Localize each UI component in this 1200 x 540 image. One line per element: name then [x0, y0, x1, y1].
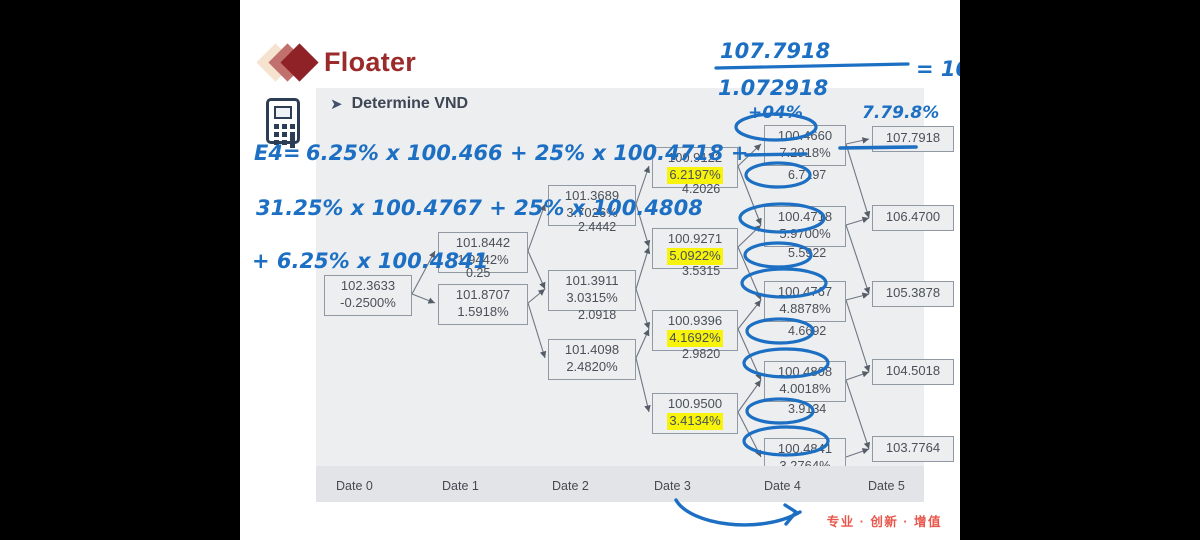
lattice-edge	[738, 380, 761, 412]
lattice-edge	[528, 251, 545, 289]
lattice-edge	[738, 225, 761, 247]
node-value: 101.3911	[549, 273, 635, 289]
lattice-node[interactable]: 103.7764	[872, 436, 954, 462]
node-value: 100.9122	[653, 150, 737, 166]
lattice-edge	[738, 166, 761, 225]
node-rate: 5.0922%	[653, 247, 737, 265]
lattice-node[interactable]: 101.40982.4820%	[548, 339, 636, 380]
node-value: 100.4718	[765, 209, 845, 225]
lattice-node[interactable]: 105.3878	[872, 281, 954, 307]
node-value: 100.9500	[653, 396, 737, 412]
calculator-icon	[266, 98, 300, 144]
forward-rate-label: 2.4442	[578, 220, 616, 234]
lattice-node[interactable]: 100.48084.0018%	[764, 361, 846, 402]
brand-diamond-logo	[262, 42, 318, 82]
lattice-node[interactable]: 100.93964.1692%	[652, 310, 738, 351]
calculator-screen	[274, 106, 292, 119]
lattice-node[interactable]: 100.46607.2918%	[764, 125, 846, 166]
date-axis-label-4: Date 4	[764, 479, 801, 493]
lattice-node[interactable]: 102.3633-0.2500%	[324, 275, 412, 316]
lattice-edge	[412, 294, 435, 303]
date-axis-label-1: Date 1	[442, 479, 479, 493]
calculator-key	[282, 124, 287, 129]
node-rate: 5.9700%	[765, 225, 845, 243]
node-value: 103.7764	[886, 440, 940, 456]
node-value: 100.4767	[765, 284, 845, 300]
node-rate: 7.2918%	[765, 144, 845, 162]
ink-fraction-numerator: 107.7918	[720, 39, 830, 63]
lattice-edge	[738, 329, 761, 380]
node-rate: 1.5918%	[439, 303, 527, 321]
node-value: 100.9271	[653, 231, 737, 247]
node-rate: 3.0315%	[549, 289, 635, 307]
node-value: 105.3878	[886, 285, 940, 301]
lattice-edge	[738, 247, 761, 300]
lattice-edge	[636, 204, 649, 247]
lattice-edge	[738, 412, 761, 457]
forward-rate-label: 5.5922	[788, 246, 826, 260]
forward-rate-label: 3.5315	[682, 264, 720, 278]
lattice-edge	[738, 300, 761, 329]
footer-slogan: 专业 · 创新 · 增值	[827, 511, 942, 530]
arrow-bullet-icon: ➤	[330, 95, 343, 113]
forward-rate-label: 6.7197	[788, 168, 826, 182]
node-rate: -0.2500%	[325, 294, 411, 312]
node-rate: 4.8878%	[765, 300, 845, 318]
forward-rate-label: 4.6692	[788, 324, 826, 338]
date-axis-label-5: Date 5	[868, 479, 905, 493]
letterbox-right	[960, 0, 1200, 540]
lattice-edge	[636, 247, 649, 289]
ink-arrow-head	[785, 505, 796, 524]
lattice-edge	[738, 144, 761, 166]
node-rate: 4.1692%	[653, 329, 737, 347]
letterbox-left	[0, 0, 240, 540]
ink-fraction-result: = 100.466	[916, 57, 960, 81]
node-rate: 2.4820%	[549, 358, 635, 376]
ink-curved-arrow	[676, 500, 800, 525]
lattice-edge	[412, 251, 435, 294]
lattice-edge	[846, 144, 869, 218]
node-value: 100.4660	[765, 128, 845, 144]
lattice-panel: 102.3633-0.2500%101.84421.9442%101.87071…	[316, 120, 924, 502]
lattice-node[interactable]: 106.4700	[872, 205, 954, 231]
node-value: 104.5018	[886, 363, 940, 379]
lattice-node[interactable]: 100.47674.8878%	[764, 281, 846, 322]
screenshot-root: Floater ➤ Determine VND	[0, 0, 1200, 540]
node-value: 101.3689	[549, 188, 635, 204]
calculator-body	[266, 98, 300, 144]
calculator-key	[282, 140, 287, 145]
calculator-enter-key	[290, 132, 295, 148]
calculator-key	[274, 124, 279, 129]
forward-rate-label: 0.25	[466, 266, 490, 280]
lattice-edge	[846, 380, 869, 449]
lattice-node[interactable]: 104.5018	[872, 359, 954, 385]
node-rate: 4.0018%	[765, 380, 845, 398]
lattice-edge	[528, 303, 545, 358]
section-header-title: Determine VND	[352, 95, 468, 113]
title-row: Floater	[262, 38, 416, 86]
lattice-edge	[528, 289, 545, 303]
forward-rate-label: 2.0918	[578, 308, 616, 322]
node-value: 101.8442	[439, 235, 527, 251]
calculator-key	[274, 132, 279, 137]
ink-fraction-bar	[716, 64, 908, 68]
date-axis-strip: Date 0Date 1Date 2Date 3Date 4Date 5	[316, 466, 924, 502]
lattice-edge	[636, 329, 649, 358]
lattice-edge	[846, 218, 869, 225]
lattice-edge	[636, 358, 649, 412]
lattice-edge	[846, 372, 869, 380]
lattice-edge	[636, 289, 649, 329]
lattice-edge	[636, 166, 649, 204]
node-value: 106.4700	[886, 209, 940, 225]
node-value: 101.4098	[549, 342, 635, 358]
node-value: 102.3633	[325, 278, 411, 294]
lattice-edge	[846, 300, 869, 372]
lattice-edge	[846, 449, 869, 457]
node-value: 100.4841	[765, 441, 845, 457]
section-header: ➤ Determine VND	[316, 88, 924, 120]
page-title: Floater	[324, 47, 416, 78]
calculator-key	[274, 140, 279, 145]
date-axis-label-0: Date 0	[336, 479, 373, 493]
lattice-node[interactable]: 101.39113.0315%	[548, 270, 636, 311]
node-value: 100.9396	[653, 313, 737, 329]
calculator-key	[282, 132, 287, 137]
calculator-key	[290, 124, 295, 129]
lattice-node[interactable]: 100.95003.4134%	[652, 393, 738, 434]
lattice-node[interactable]: 100.47185.9700%	[764, 206, 846, 247]
forward-rate-label: 4.2026	[682, 182, 720, 196]
forward-rate-label: 2.9820	[682, 347, 720, 361]
slide-canvas: Floater ➤ Determine VND	[240, 0, 960, 540]
date-axis-label-2: Date 2	[552, 479, 589, 493]
forward-rate-label: 3.9134	[788, 402, 826, 416]
lattice-edge	[846, 139, 869, 144]
lattice-node[interactable]: 107.7918	[872, 126, 954, 152]
node-rate: 3.4134%	[653, 412, 737, 430]
lattice-edge	[846, 225, 869, 294]
lattice-edge	[846, 294, 869, 300]
date-axis-label-3: Date 3	[654, 479, 691, 493]
node-value: 100.4808	[765, 364, 845, 380]
lattice-node[interactable]: 101.87071.5918%	[438, 284, 528, 325]
node-value: 107.7918	[886, 130, 940, 146]
lattice-edge	[528, 204, 545, 251]
node-value: 101.8707	[439, 287, 527, 303]
